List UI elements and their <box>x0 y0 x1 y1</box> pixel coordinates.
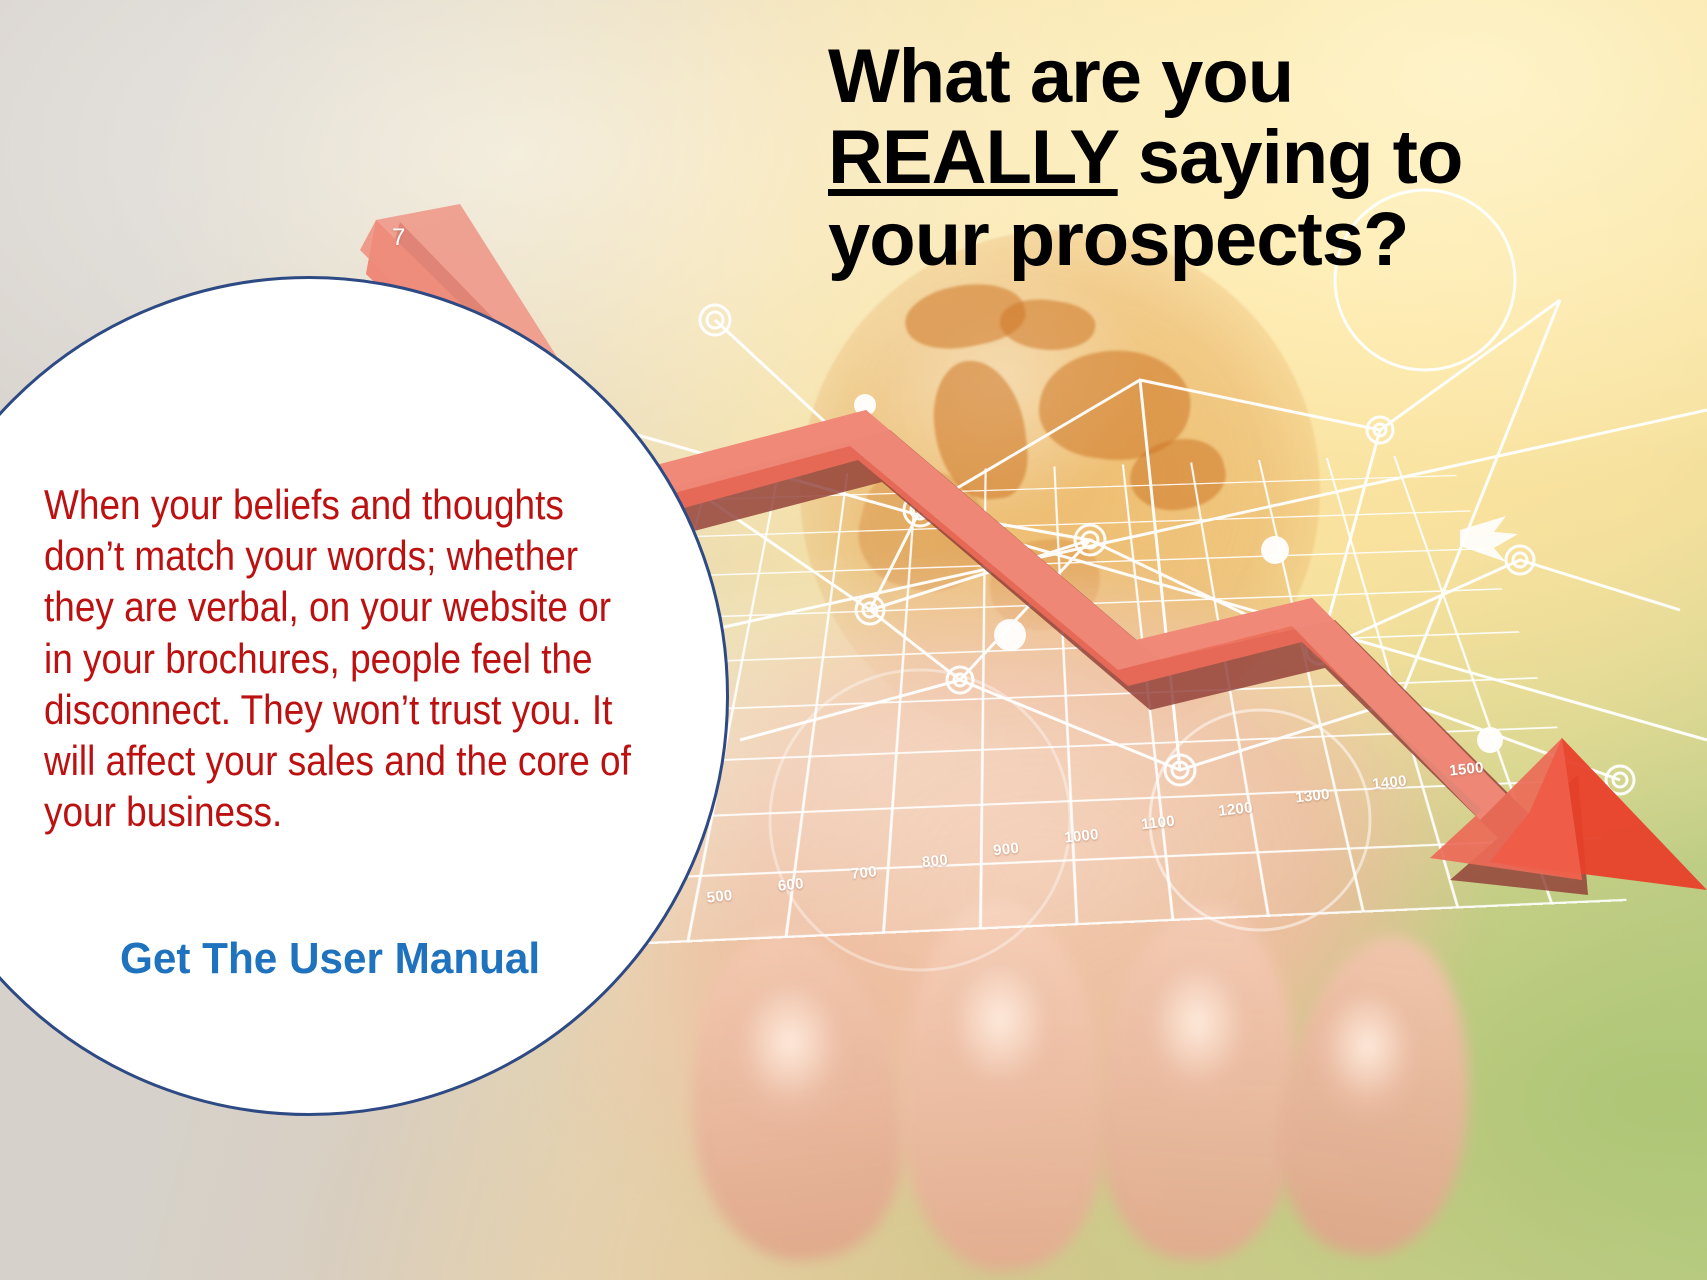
hand-fingernail <box>940 960 1060 1115</box>
axis-tick-label: 1300 <box>1294 786 1330 807</box>
axis-tick-label: 700 <box>850 863 878 883</box>
cta-link[interactable]: Get The User Manual <box>120 934 734 984</box>
axis-tick-label: 1100 <box>1140 813 1175 834</box>
callout-body-text: When your beliefs and thoughts don’t mat… <box>44 479 634 838</box>
axis-tick-label: 1200 <box>1217 799 1253 820</box>
headline: What are you REALLY saying to your prosp… <box>828 36 1528 280</box>
axis-tick-label: 900 <box>992 840 1020 860</box>
chart-annotation-7: 7 <box>392 224 405 252</box>
headline-line-2-rest: saying to <box>1118 115 1463 200</box>
axis-tick-label: 800 <box>921 851 949 871</box>
axis-tick-label: 1000 <box>1063 826 1099 847</box>
axis-tick-label: 1400 <box>1371 772 1407 793</box>
headline-emphasis: REALLY <box>828 115 1118 200</box>
hand-fingernail <box>730 985 850 1135</box>
axis-tick-label: 1500 <box>1448 759 1484 780</box>
slide-canvas: 7 500 600 700 800 900 1000 1100 1200 130… <box>0 0 1707 1280</box>
axis-tick-label: 500 <box>706 887 734 907</box>
headline-line-2: REALLY saying to <box>828 117 1528 198</box>
headline-line-1: What are you <box>828 36 1528 117</box>
hand-fingernail <box>1140 965 1255 1115</box>
axis-tick-label: 600 <box>777 875 805 895</box>
hand-fingernail <box>1315 995 1420 1130</box>
headline-line-3: your prospects? <box>828 199 1528 280</box>
